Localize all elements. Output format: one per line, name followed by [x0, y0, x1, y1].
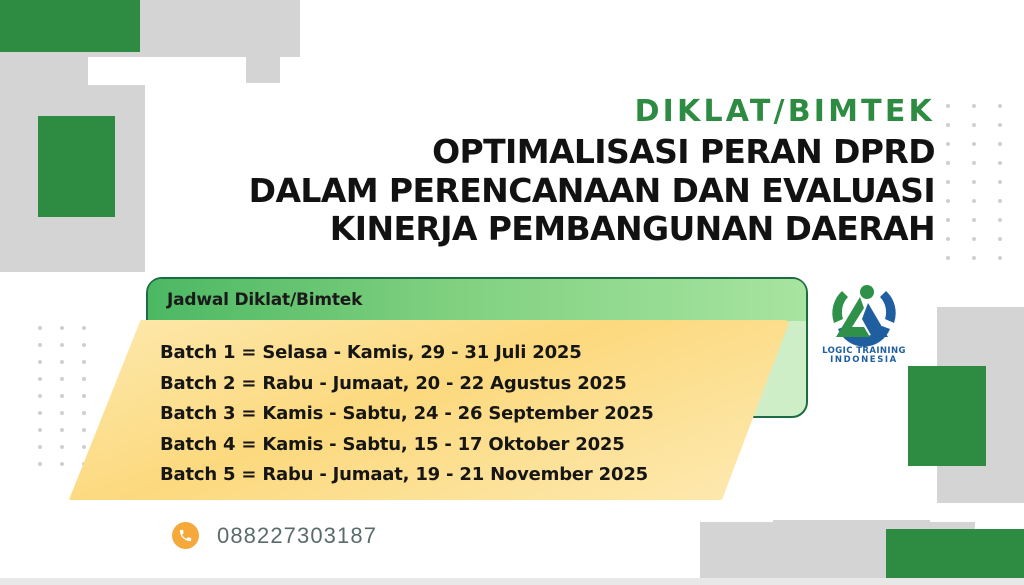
decor-dot-grid-right	[946, 104, 1024, 275]
kicker-text: DIKLAT/BIMTEK	[120, 96, 935, 128]
title-line-3: KINERJA PEMBANGUNAN DAERAH	[120, 210, 935, 248]
decor-green-bar-topleft	[0, 0, 140, 52]
batch-row: Batch 1 = Selasa - Kamis, 29 - 31 Juli 2…	[160, 338, 760, 369]
schedule-card-header: Jadwal Diklat/Bimtek	[148, 279, 806, 321]
triangle-person-logo-icon	[812, 281, 916, 351]
decor-green-bar-bottomright	[886, 529, 1024, 585]
decor-green-square-left	[38, 116, 115, 217]
decor-grey-bar-top	[140, 0, 300, 57]
phone-icon	[172, 522, 199, 549]
decor-bottom-edge-line	[0, 578, 1024, 585]
logo-line-2: INDONESIA	[812, 356, 916, 365]
title-line-1: OPTIMALISASI PERAN DPRD	[120, 133, 935, 171]
batch-row: Batch 2 = Rabu - Jumaat, 20 - 22 Agustus…	[160, 369, 760, 400]
batch-list: Batch 1 = Selasa - Kamis, 29 - 31 Juli 2…	[160, 338, 760, 491]
contact-phone[interactable]: 088227303187	[172, 522, 377, 549]
batch-row: Batch 5 = Rabu - Jumaat, 19 - 21 Novembe…	[160, 460, 760, 491]
decor-green-square-right	[908, 366, 986, 466]
flyer-canvas: DIKLAT/BIMTEK OPTIMALISASI PERAN DPRD DA…	[0, 0, 1024, 585]
logo-wordmark: LOGIC TRAINING INDONESIA	[812, 347, 916, 365]
batch-row: Batch 3 = Kamis - Sabtu, 24 - 26 Septemb…	[160, 399, 760, 430]
company-logo: LOGIC TRAINING INDONESIA	[812, 281, 916, 381]
title-line-2: DALAM PERENCANAAN DAN EVALUASI	[120, 172, 935, 210]
schedule-card-title: Jadwal Diklat/Bimtek	[148, 290, 362, 310]
batch-row: Batch 4 = Kamis - Sabtu, 15 - 17 Oktober…	[160, 430, 760, 461]
headline-block: DIKLAT/BIMTEK OPTIMALISASI PERAN DPRD DA…	[120, 96, 935, 248]
decor-grey-step-top	[246, 57, 280, 83]
phone-number: 088227303187	[217, 523, 377, 549]
